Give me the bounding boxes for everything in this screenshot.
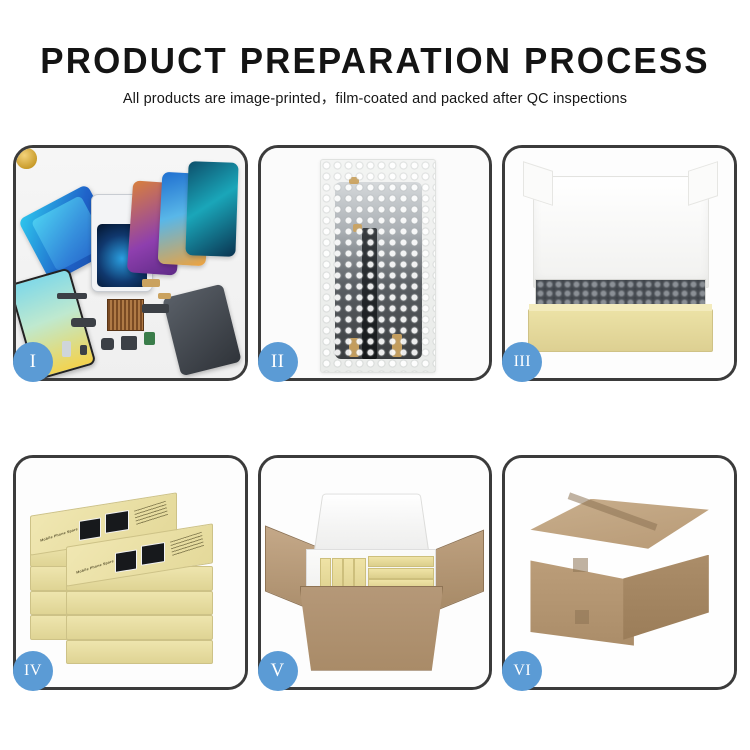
screen-thumb-back-2-icon: [105, 510, 129, 533]
spec-lines-back-icon: [134, 500, 168, 524]
tape-patch-lower-icon: [575, 610, 589, 623]
step-badge-2: II: [258, 342, 298, 382]
antenna-icon: [142, 304, 169, 313]
speaker-module-icon: [16, 148, 37, 169]
yellow-box-5-icon: [368, 556, 434, 567]
screen-thumb-front-2-icon: [141, 542, 165, 565]
step-caption-6: Sealed brown shipping carton ready for d…: [505, 458, 506, 459]
white-foam-lid-icon: [533, 176, 709, 288]
step-badge-5: V: [258, 651, 298, 691]
process-step-grid: I Phone displays, screen assemblies and …: [13, 145, 737, 690]
sealed-carton-image: [505, 458, 734, 688]
process-step-panel-1[interactable]: I Phone displays, screen assemblies and …: [13, 145, 248, 381]
chip-array-icon: [107, 299, 143, 331]
step-badge-3: III: [502, 342, 542, 382]
screen-thumb-back-1-icon: [79, 517, 101, 540]
tape-patch-upper-icon: [573, 558, 587, 573]
vibrator-icon: [121, 336, 137, 350]
bubble-wrap-bag-icon: [320, 159, 436, 372]
step-caption-4: Stacked printed retail boxes: [16, 458, 17, 459]
flex-cable-2-icon: [158, 293, 172, 300]
camera-module-icon: [71, 318, 96, 327]
process-step-panel-3[interactable]: III Yellow kraft box with bubble wrap pa…: [502, 145, 737, 381]
stacked-retail-boxes-image: Mobile Phone Spare Parts Mobile Phone Sp…: [16, 458, 245, 688]
step-badge-1: I: [13, 342, 53, 382]
carton-body-icon: [300, 586, 444, 671]
carton-with-foam-image: [261, 458, 490, 688]
process-step-panel-6[interactable]: VI Sealed brown shipping carton ready fo…: [502, 455, 737, 691]
screen-thumb-front-1-icon: [115, 549, 137, 572]
carton-side-face-icon: [623, 555, 709, 640]
step-caption-5: Outer carton lined with styrofoam, fille…: [261, 458, 262, 459]
process-step-panel-2[interactable]: II Single screen assembly sealed in bubb…: [258, 145, 493, 381]
step-caption-1: Phone displays, screen assemblies and sp…: [16, 148, 17, 149]
carton-front-face-icon: [530, 560, 633, 645]
bubble-texture-icon: [321, 160, 435, 371]
open-yellow-box-image: [505, 148, 734, 378]
sim-tray-icon: [144, 332, 155, 346]
page-title: PRODUCT PREPARATION PROCESS: [11, 40, 739, 82]
step-caption-2: Single screen assembly sealed in bubble …: [261, 148, 262, 149]
step-caption-3: Yellow kraft box with bubble wrap paddin…: [505, 148, 506, 149]
flex-cable-icon: [142, 279, 160, 287]
process-step-panel-5[interactable]: V Outer carton lined with styrofoam, fil…: [258, 455, 493, 691]
phone-parts-spread-image: [16, 148, 245, 378]
step-badge-4: IV: [13, 651, 53, 691]
screw-icon: [80, 345, 87, 354]
bubble-wrapped-screen-image: [261, 148, 490, 378]
button-icon: [101, 338, 115, 349]
carton-top-face-icon: [530, 499, 708, 549]
box-stack-icon: Mobile Phone Spare Parts Mobile Phone Sp…: [30, 490, 231, 664]
sealed-carton-icon: [530, 499, 708, 646]
small-screen-icon: [62, 341, 71, 357]
page-subtitle: All products are image-printed，film-coat…: [0, 89, 750, 109]
spec-lines-front-icon: [170, 532, 204, 556]
infographic-page: PRODUCT PREPARATION PROCESS All products…: [0, 0, 750, 750]
process-step-panel-4[interactable]: Mobile Phone Spare Parts Mobile Phone Sp…: [13, 455, 248, 691]
phone-back-housing-icon: [163, 284, 242, 377]
teal-phone-display-icon: [186, 161, 240, 257]
connector-strip-icon: [57, 293, 87, 300]
yellow-box-6-icon: [368, 568, 434, 579]
yellow-box-tray-icon: [528, 309, 713, 352]
header: PRODUCT PREPARATION PROCESS All products…: [0, 0, 750, 109]
